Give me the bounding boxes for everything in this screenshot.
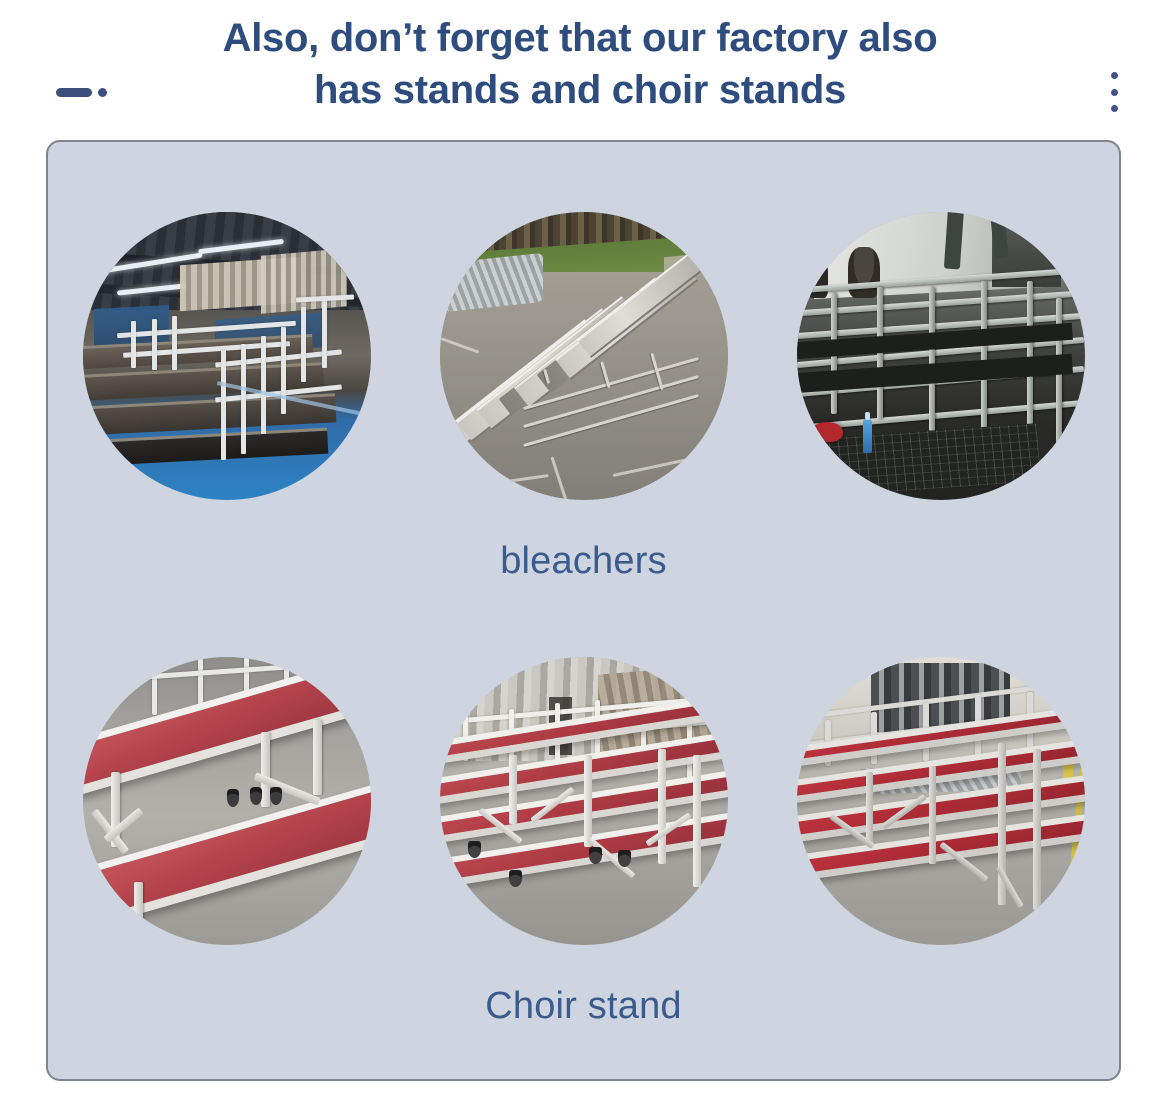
rail-post bbox=[152, 319, 157, 371]
choir-stand-plant-photo[interactable] bbox=[797, 657, 1085, 945]
red-object bbox=[811, 422, 843, 442]
rail-post bbox=[261, 336, 266, 434]
stand-post bbox=[1033, 749, 1041, 910]
gallery-row-choir-stand bbox=[48, 645, 1119, 957]
stand-post bbox=[929, 766, 936, 864]
stand-post bbox=[693, 755, 701, 887]
page-title: Also, don’t forget that our factory also… bbox=[120, 12, 1040, 116]
slide-page: Also, don’t forget that our factory also… bbox=[0, 0, 1170, 1094]
bleachers-warehouse-photo[interactable] bbox=[83, 212, 371, 500]
scaffold-rod bbox=[543, 369, 550, 384]
stand-post bbox=[509, 755, 517, 824]
minus-dot bbox=[98, 88, 107, 97]
mesh-floor bbox=[812, 423, 1040, 496]
outdoor-planks-scene bbox=[440, 212, 728, 500]
ellipsis-dot-1 bbox=[1111, 72, 1118, 79]
rail-post bbox=[241, 344, 246, 453]
stand-post bbox=[584, 755, 592, 847]
minus-dot-icon[interactable] bbox=[56, 84, 112, 100]
stored-material bbox=[261, 249, 347, 314]
warehouse-scene bbox=[83, 212, 371, 500]
rail-post bbox=[172, 316, 177, 371]
rail-post bbox=[131, 321, 136, 367]
factory-assembly-scene bbox=[797, 212, 1085, 500]
choir-stand-closeup-photo[interactable] bbox=[83, 657, 371, 945]
stand-post bbox=[658, 749, 666, 864]
riser-leg bbox=[261, 732, 270, 807]
water-bottle bbox=[863, 419, 872, 453]
background-rail bbox=[146, 663, 301, 679]
choir-riser-upper bbox=[83, 659, 371, 797]
gallery-row-bleachers bbox=[48, 200, 1119, 512]
minus-bar bbox=[56, 88, 92, 97]
ellipsis-dot-3 bbox=[1111, 105, 1118, 112]
caption-choir-stand: Choir stand bbox=[48, 985, 1119, 1028]
background-rail-post bbox=[152, 657, 157, 715]
worker bbox=[848, 247, 880, 299]
rail-post bbox=[221, 350, 226, 459]
caster-wheel bbox=[270, 787, 282, 805]
product-gallery-panel: bleachers bbox=[46, 140, 1121, 1081]
header: Also, don’t forget that our factory also… bbox=[0, 0, 1170, 135]
bleachers-planks-photo[interactable] bbox=[440, 212, 728, 500]
rail-post bbox=[301, 307, 306, 382]
metal-coil-stack bbox=[445, 253, 543, 312]
choir-stand-tiers-photo[interactable] bbox=[440, 657, 728, 945]
riser-red-top bbox=[83, 659, 371, 797]
choir-plant-scene bbox=[797, 657, 1085, 945]
rail-post bbox=[322, 298, 327, 367]
scaffold-rods bbox=[520, 370, 710, 485]
stand-post bbox=[866, 772, 873, 847]
caster-wheel bbox=[227, 789, 239, 807]
bleachers-assembly-photo[interactable] bbox=[797, 212, 1085, 500]
caption-bleachers: bleachers bbox=[48, 540, 1119, 583]
ellipsis-dot-2 bbox=[1111, 89, 1118, 96]
bleacher-base bbox=[83, 428, 328, 468]
caster-wheel bbox=[509, 870, 522, 887]
choir-closeup-scene bbox=[83, 657, 371, 945]
frame-post bbox=[929, 287, 935, 431]
riser-leg bbox=[313, 720, 322, 795]
rail-post bbox=[281, 327, 286, 413]
caster-wheel bbox=[618, 850, 631, 867]
vertical-ellipsis-icon[interactable] bbox=[1100, 68, 1128, 116]
choir-tiers-scene bbox=[440, 657, 728, 945]
caster-wheel bbox=[250, 787, 262, 805]
riser-leg bbox=[134, 882, 143, 945]
